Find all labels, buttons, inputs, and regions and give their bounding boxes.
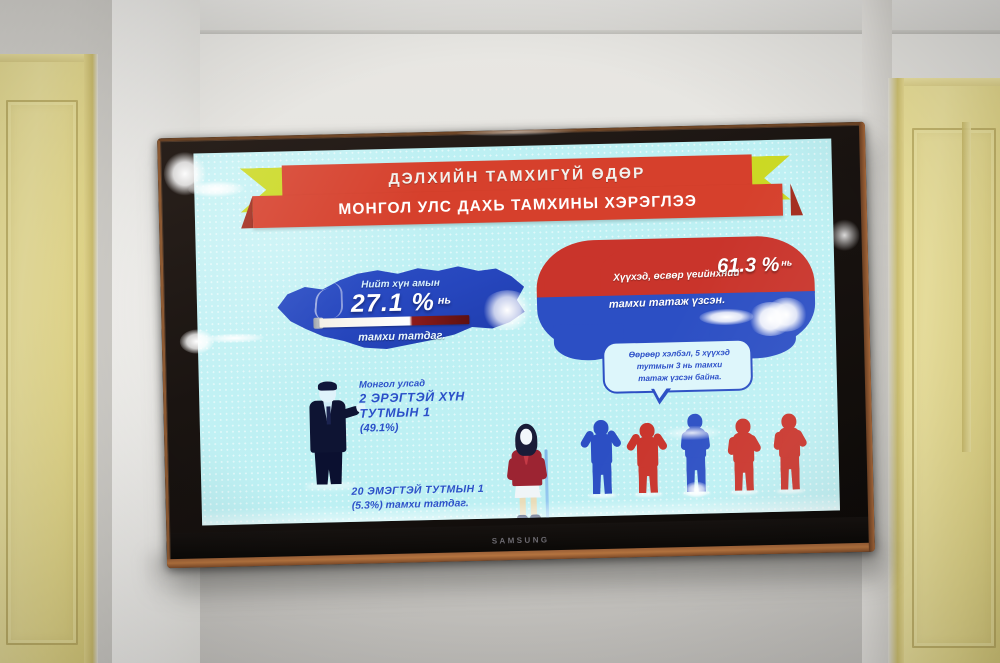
right-door-panel <box>912 128 996 648</box>
television[interactable]: ДЭЛХИЙН ТАМХИГҮЙ ӨДӨР МОНГОЛ УЛС ДАХЬ ТА… <box>157 122 875 569</box>
tv-body: ДЭЛХИЙН ТАМХИГҮЙ ӨДӨР МОНГОЛ УЛС ДАХЬ ТА… <box>157 122 875 569</box>
right-door-inner-edge <box>962 122 971 452</box>
youth-stat-value-number: 61.3 % <box>717 254 780 277</box>
left-door-panel <box>6 100 78 645</box>
right-door-jamb <box>888 78 904 663</box>
photo-scene: ДЭЛХИЙН ТАМХИГҮЙ ӨДӨР МОНГОЛ УЛС ДАХЬ ТА… <box>0 0 1000 663</box>
left-door[interactable] <box>0 62 86 663</box>
tv-frame-trim <box>157 122 875 569</box>
youth-stat-value-suffix: нь <box>781 257 792 267</box>
youth-stat-value: 61.3 %нь <box>717 253 793 278</box>
left-door-jamb <box>84 54 98 663</box>
right-door[interactable] <box>900 86 1000 663</box>
children-callout-tail-inner <box>653 386 668 398</box>
